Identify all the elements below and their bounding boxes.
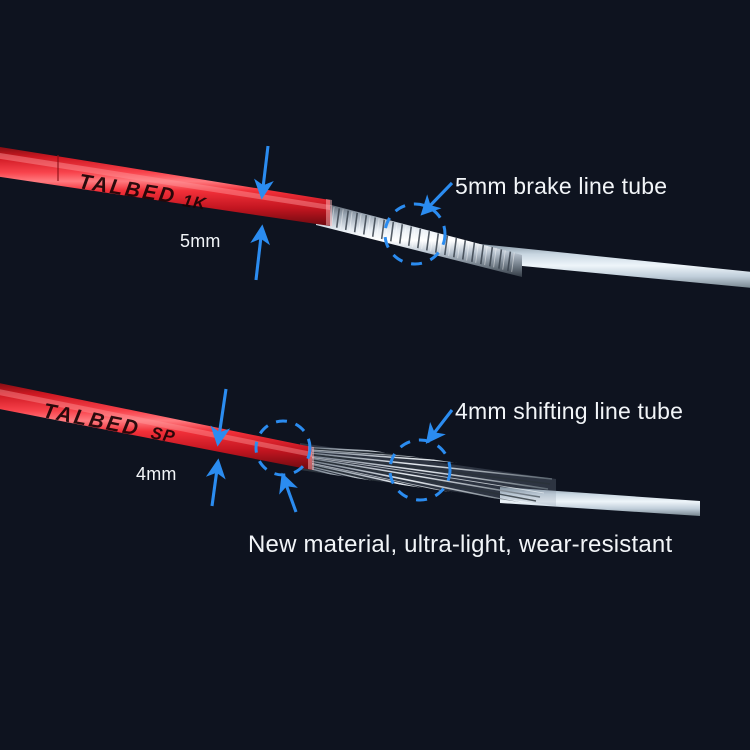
brake-housing-assembly: TALBED 1K [0,146,750,288]
shift-dimension-label: 4mm [136,464,177,485]
product-illustration: TALBED 1K [0,0,750,750]
feature-caption: New material, ultra-light, wear-resistan… [248,531,672,559]
shift-callout-label: 4mm shifting line tube [455,398,683,425]
svg-text:SP: SP [149,423,177,446]
shift-steel-strands [300,443,556,516]
brake-callout-label: 5mm brake line tube [455,173,667,200]
brake-dimension-label: 5mm [180,231,221,252]
callout-arrow [428,410,452,441]
jacket-callout-arrow [283,476,296,512]
product-photo-canvas: TALBED 1K [0,0,750,750]
callout-arrow [423,183,452,213]
svg-text:1K: 1K [181,191,208,214]
